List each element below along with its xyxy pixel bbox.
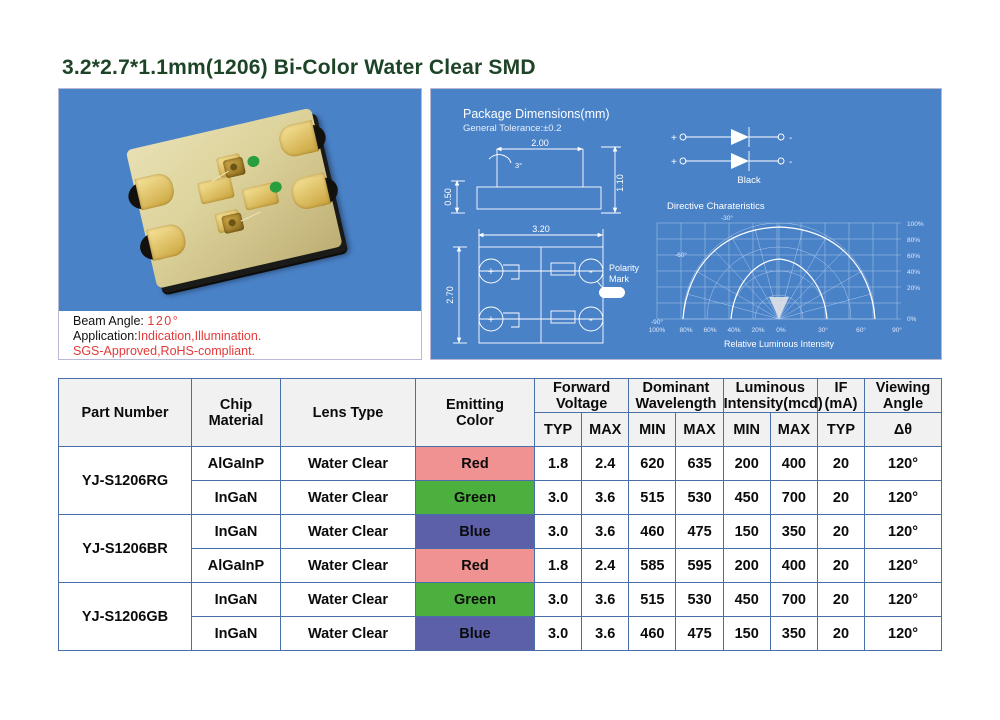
- table-row: YJ-S1206BRInGaNWater ClearBlue3.03.64604…: [59, 515, 942, 549]
- cell-chip-material: AlGaInP: [192, 549, 281, 583]
- cell-wl-max: 635: [676, 447, 723, 481]
- table-row: AlGaInPWater ClearRed1.82.45855952004002…: [59, 549, 942, 583]
- th-vf-max: MAX: [582, 413, 629, 447]
- panels-row: Beam Angle: 120° Application:Indication,…: [58, 88, 942, 360]
- cell-if-typ: 20: [818, 481, 865, 515]
- cell-vf-typ: 1.8: [535, 447, 582, 481]
- cell-emitting-color: Blue: [416, 515, 535, 549]
- cell-wl-max: 475: [676, 515, 723, 549]
- cell-vf-typ: 3.0: [535, 583, 582, 617]
- th-lens-type: Lens Type: [281, 379, 416, 447]
- cell-wl-min: 585: [629, 549, 676, 583]
- polar-right-tick-40: 40%: [907, 269, 920, 276]
- cell-if-typ: 20: [818, 447, 865, 481]
- th-emitting-color: Emitting Color: [416, 379, 535, 447]
- compliance-line: SGS-Approved,RoHS-compliant.: [73, 344, 421, 359]
- cell-chip-material: InGaN: [192, 583, 281, 617]
- cell-iv-min: 200: [723, 447, 770, 481]
- pad-minus-top: -: [589, 266, 593, 278]
- cell-wl-max: 530: [676, 583, 723, 617]
- cell-vf-max: 2.4: [582, 549, 629, 583]
- bottom-view-height-dim: 2.70: [445, 286, 455, 304]
- cell-emitting-color: Green: [416, 583, 535, 617]
- cell-lens-type: Water Clear: [281, 549, 416, 583]
- polarity-mark-label-line1: Polarity: [609, 263, 640, 273]
- cell-iv-min: 450: [723, 583, 770, 617]
- cell-vf-max: 3.6: [582, 617, 629, 651]
- th-dominant-wavelength-l1: Dominant: [643, 380, 710, 396]
- cell-lens-type: Water Clear: [281, 515, 416, 549]
- specification-table-wrap: Part Number Chip Material Lens Type Emit…: [58, 378, 942, 651]
- cell-viewing-angle: 120°: [865, 549, 942, 583]
- cell-emitting-color: Blue: [416, 617, 535, 651]
- table-row: InGaNWater ClearGreen3.03.65155304507002…: [59, 481, 942, 515]
- cell-part-number: YJ-S1206BR: [59, 515, 192, 583]
- polar-left-tick-40: 40%: [727, 327, 740, 334]
- th-if: IF (mA): [818, 379, 865, 413]
- led-package-illustration: [126, 105, 355, 296]
- pad-plus-top: +: [488, 266, 494, 278]
- cell-wl-max: 595: [676, 549, 723, 583]
- th-if-l2: (mA): [824, 396, 857, 412]
- application-label: Application:: [73, 329, 138, 343]
- cell-iv-min: 200: [723, 549, 770, 583]
- cell-if-typ: 20: [818, 583, 865, 617]
- cell-wl-max: 530: [676, 481, 723, 515]
- th-chip-material-l1: Chip: [220, 397, 252, 413]
- cell-lens-type: Water Clear: [281, 617, 416, 651]
- cell-vf-max: 3.6: [582, 515, 629, 549]
- polar-left-tick-60: 60%: [703, 327, 716, 334]
- th-iv-min: MIN: [723, 413, 770, 447]
- cell-wl-min: 515: [629, 583, 676, 617]
- cell-vf-max: 3.6: [582, 583, 629, 617]
- circuit-minus-bottom: -: [789, 157, 792, 168]
- table-header-row-1: Part Number Chip Material Lens Type Emit…: [59, 379, 942, 413]
- th-wl-min: MIN: [629, 413, 676, 447]
- table-row: YJ-S1206GBInGaNWater ClearGreen3.03.6515…: [59, 583, 942, 617]
- table-row: YJ-S1206RGAlGaInPWater ClearRed1.82.4620…: [59, 447, 942, 481]
- cell-lens-type: Water Clear: [281, 583, 416, 617]
- cell-vf-typ: 1.8: [535, 549, 582, 583]
- cell-iv-max: 700: [770, 481, 817, 515]
- cell-vf-typ: 3.0: [535, 515, 582, 549]
- polar-left-tick-0: 0%: [776, 327, 786, 334]
- cell-iv-min: 150: [723, 515, 770, 549]
- polar-chart-xlabel: Relative Luminous Intensity: [724, 339, 835, 349]
- circuit-plus-top: +: [671, 133, 677, 144]
- datasheet-page: 3.2*2.7*1.1mm(1206) Bi-Color Water Clear…: [0, 0, 1000, 720]
- cell-part-number: YJ-S1206GB: [59, 583, 192, 651]
- th-luminous-intensity-l2: Intensity(mcd): [724, 396, 823, 412]
- cell-viewing-angle: 120°: [865, 617, 942, 651]
- th-iv-max: MAX: [770, 413, 817, 447]
- cell-chip-material: InGaN: [192, 481, 281, 515]
- polar-angle-tick-90: 90°: [892, 326, 902, 334]
- table-body: YJ-S1206RGAlGaInPWater ClearRed1.82.4620…: [59, 447, 942, 651]
- table-row: InGaNWater ClearBlue3.03.646047515035020…: [59, 617, 942, 651]
- cell-iv-min: 150: [723, 617, 770, 651]
- cell-emitting-color: Red: [416, 549, 535, 583]
- product-photo: [59, 89, 421, 313]
- th-part-number: Part Number: [59, 379, 192, 447]
- cell-lens-type: Water Clear: [281, 447, 416, 481]
- cell-vf-typ: 3.0: [535, 617, 582, 651]
- polar-left-tick-80: 80%: [679, 327, 692, 334]
- th-forward-voltage: Forward Voltage: [535, 379, 629, 413]
- cell-if-typ: 20: [818, 617, 865, 651]
- cell-emitting-color: Green: [416, 481, 535, 515]
- bottom-view-width-dim: 3.20: [532, 224, 550, 234]
- cell-iv-max: 400: [770, 447, 817, 481]
- cell-wl-min: 460: [629, 515, 676, 549]
- pad-plus-bottom: +: [488, 314, 494, 326]
- beam-angle-label: Beam Angle:: [73, 314, 144, 328]
- polar-angle-tick-60: 60°: [856, 326, 866, 334]
- polar-right-tick-0: 0%: [907, 316, 917, 323]
- polar-angle-tick-neg30: -30°: [721, 214, 733, 222]
- cell-lens-type: Water Clear: [281, 481, 416, 515]
- cell-wl-min: 620: [629, 447, 676, 481]
- polar-right-tick-60: 60%: [907, 253, 920, 260]
- pad-minus-bottom: -: [589, 314, 593, 326]
- cell-iv-max: 350: [770, 515, 817, 549]
- th-viewing-angle: Viewing Angle: [865, 379, 942, 413]
- beam-angle-line: Beam Angle: 120°: [73, 314, 421, 329]
- th-viewing-angle-l1: Viewing: [876, 380, 931, 396]
- th-luminous-intensity: Luminous Intensity(mcd): [723, 379, 817, 413]
- cell-iv-max: 350: [770, 617, 817, 651]
- cell-chip-material: AlGaInP: [192, 447, 281, 481]
- cell-vf-typ: 3.0: [535, 481, 582, 515]
- polar-angle-tick-neg90: -90°: [651, 318, 663, 326]
- cell-iv-min: 450: [723, 481, 770, 515]
- package-dimensions-panel: Package Dimensions(mm) General Tolerance…: [430, 88, 942, 360]
- side-view-standoff-dim: 0.50: [443, 188, 453, 206]
- cell-chip-material: InGaN: [192, 515, 281, 549]
- cell-vf-max: 3.6: [582, 481, 629, 515]
- circuit-plus-bottom: +: [671, 157, 677, 168]
- th-forward-voltage-l2: Voltage: [556, 396, 607, 412]
- polarity-mark-label-line2: Mark: [609, 274, 629, 284]
- th-viewing-angle-l2: Angle: [883, 396, 923, 412]
- application-line: Application:Indication,Illumination.: [73, 329, 421, 344]
- cell-viewing-angle: 120°: [865, 583, 942, 617]
- th-forward-voltage-l1: Forward: [553, 380, 610, 396]
- polar-right-tick-100: 100%: [907, 221, 924, 228]
- product-photo-panel: Beam Angle: 120° Application:Indication,…: [58, 88, 422, 360]
- page-title: 3.2*2.7*1.1mm(1206) Bi-Color Water Clear…: [62, 56, 536, 80]
- th-chip-material-l2: Material: [209, 413, 264, 429]
- polar-right-tick-80: 80%: [907, 237, 920, 244]
- cell-viewing-angle: 120°: [865, 447, 942, 481]
- th-luminous-intensity-l1: Luminous: [736, 380, 805, 396]
- cell-emitting-color: Red: [416, 447, 535, 481]
- cell-viewing-angle: 120°: [865, 481, 942, 515]
- side-view-height-dim: 1.10: [615, 174, 625, 192]
- polar-chart-title: Directive Charateristics: [667, 201, 765, 212]
- cell-wl-max: 475: [676, 617, 723, 651]
- cell-vf-max: 2.4: [582, 447, 629, 481]
- cell-if-typ: 20: [818, 515, 865, 549]
- cell-part-number: YJ-S1206RG: [59, 447, 192, 515]
- polar-left-tick-100: 100%: [649, 327, 666, 334]
- cell-iv-max: 700: [770, 583, 817, 617]
- circuit-minus-top: -: [789, 133, 792, 144]
- cell-wl-min: 515: [629, 481, 676, 515]
- chamfer-note: 3°: [515, 161, 522, 170]
- technical-drawing: 2.00 0.50 1.10 3° 3.20 2.70 + + - - Pola…: [431, 89, 943, 361]
- th-viewing-angle-symbol: Δθ: [865, 413, 942, 447]
- side-view-width-dim: 2.00: [531, 138, 549, 148]
- th-if-l1: IF: [835, 380, 848, 396]
- polar-right-tick-20: 20%: [907, 285, 920, 292]
- polar-left-tick-20: 20%: [751, 327, 764, 334]
- th-emitting-color-l2: Color: [456, 413, 494, 429]
- th-wl-max: MAX: [676, 413, 723, 447]
- photo-caption: Beam Angle: 120° Application:Indication,…: [59, 311, 421, 359]
- th-chip-material: Chip Material: [192, 379, 281, 447]
- application-value: Indication,Illumination.: [138, 329, 262, 343]
- beam-angle-value: 120°: [147, 314, 179, 328]
- cell-chip-material: InGaN: [192, 617, 281, 651]
- th-if-typ: TYP: [818, 413, 865, 447]
- specification-table: Part Number Chip Material Lens Type Emit…: [58, 378, 942, 651]
- cell-wl-min: 460: [629, 617, 676, 651]
- polar-angle-tick-neg60: -60°: [675, 251, 687, 259]
- circuit-black-label: Black: [737, 175, 760, 186]
- polar-angle-tick-30: 30°: [818, 326, 828, 334]
- th-dominant-wavelength: Dominant Wavelength: [629, 379, 723, 413]
- th-dominant-wavelength-l2: Wavelength: [636, 396, 717, 412]
- th-vf-typ: TYP: [535, 413, 582, 447]
- th-emitting-color-l1: Emitting: [446, 397, 504, 413]
- cell-iv-max: 400: [770, 549, 817, 583]
- cell-if-typ: 20: [818, 549, 865, 583]
- cell-viewing-angle: 120°: [865, 515, 942, 549]
